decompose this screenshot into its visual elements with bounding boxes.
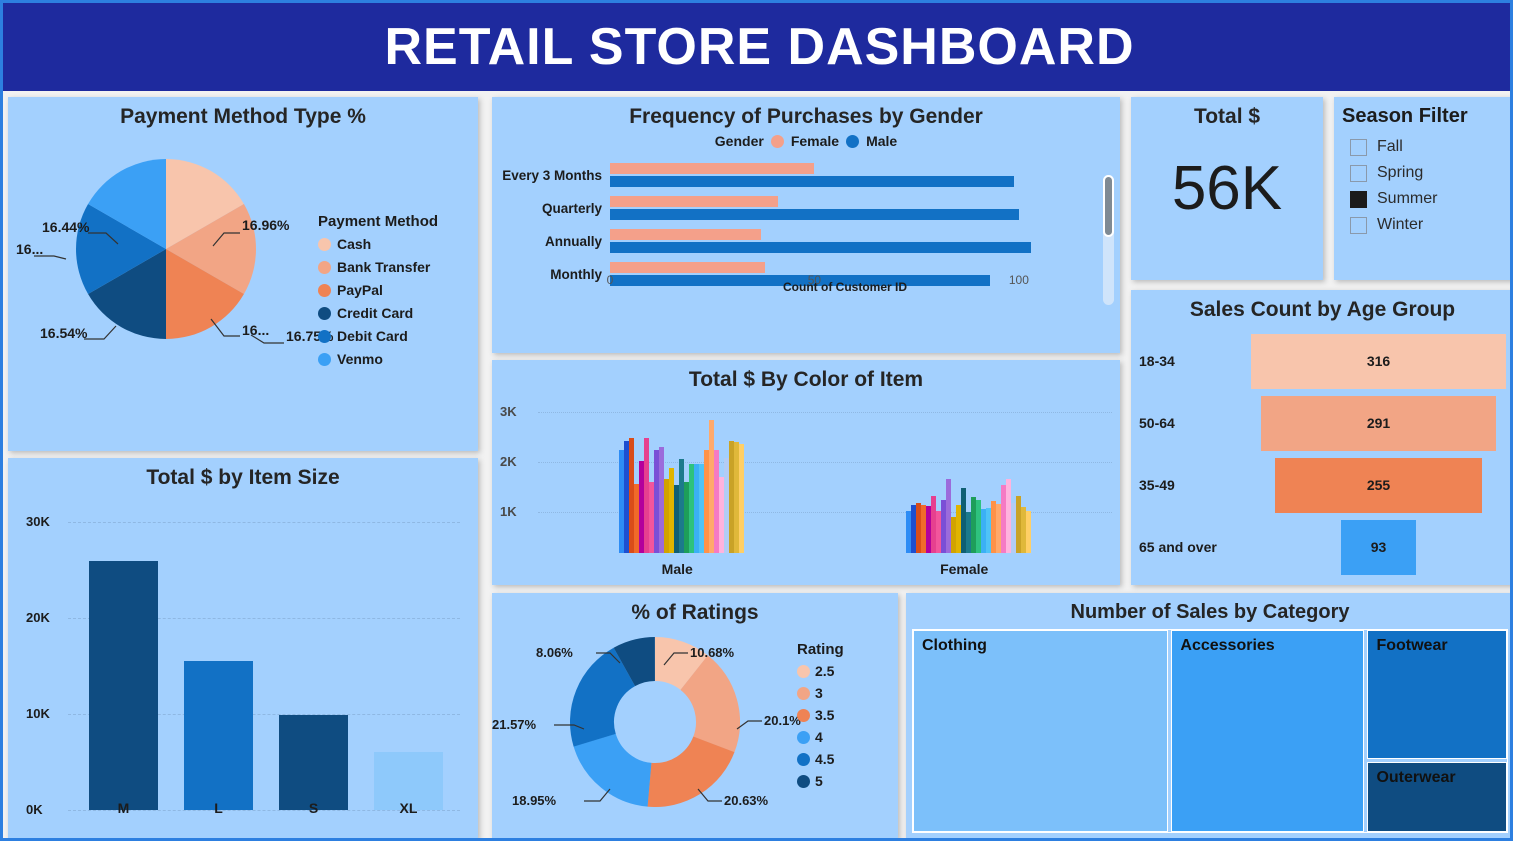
checkbox-row-spring[interactable]: Spring <box>1334 160 1513 186</box>
funnel-value-35-49: 255 <box>1367 477 1390 493</box>
legend-swatch-bank-transfer <box>318 261 331 274</box>
checkbox-row-summer[interactable]: Summer <box>1334 186 1513 212</box>
bar-male-every-3-months[interactable] <box>610 176 1014 187</box>
treemap-label-outerwear: Outerwear <box>1376 769 1455 786</box>
legend-item-debit-card[interactable]: Debit Card <box>318 328 438 344</box>
panel-title-category: Number of Sales by Category <box>906 593 1513 624</box>
bar-l[interactable] <box>184 661 252 810</box>
ytick-30k: 30K <box>26 514 66 529</box>
checkbox-winter[interactable] <box>1350 217 1367 234</box>
legend-label-bank-transfer: Bank Transfer <box>337 259 430 275</box>
legend-item-rating-2p5[interactable]: 2.5 <box>797 663 844 679</box>
legend-swatch-rating-3p5 <box>797 709 810 722</box>
legend-label-debit-card: Debit Card <box>337 328 408 344</box>
legend-item-rating-5[interactable]: 5 <box>797 773 844 789</box>
funnel-row-65-and-over[interactable]: 65 and over 93 <box>1139 516 1506 578</box>
xtick-s: S <box>279 800 347 816</box>
funnel-row-18-34[interactable]: 18-34 316 <box>1139 330 1506 392</box>
bar-group-female[interactable] <box>906 396 1031 553</box>
donut-label-3p5: 20.63% <box>724 793 768 808</box>
bar-group-annually[interactable]: Annually <box>502 225 1080 258</box>
scrollbar-thumb[interactable] <box>1103 175 1114 237</box>
bar-female-every-3-months[interactable] <box>610 163 814 174</box>
bar-chart-item-size[interactable]: 30K 20K 10K 0K M L S <box>20 504 466 824</box>
treemap-label-accessories: Accessories <box>1180 637 1274 654</box>
bar-col-s[interactable] <box>279 522 347 810</box>
dashboard-header: RETAIL STORE DASHBOARD <box>3 3 1513 91</box>
donut-svg-ratings[interactable] <box>570 637 740 807</box>
panel-title-season: Season Filter <box>1334 97 1513 134</box>
panel-color-of-item[interactable]: Total $ By Color of Item 3K 2K 1K Male F… <box>492 360 1120 585</box>
bar-col-m[interactable] <box>89 522 157 810</box>
bar-female-quarterly[interactable] <box>610 196 778 207</box>
legend-label-cash: Cash <box>337 236 371 252</box>
funnel-value-50-64: 291 <box>1367 415 1390 431</box>
checkbox-fall[interactable] <box>1350 139 1367 156</box>
treemap-label-footwear: Footwear <box>1376 637 1447 654</box>
legend-label-rating-3: 3 <box>815 685 823 701</box>
legend-gender[interactable]: Gender Female Male <box>492 133 1120 149</box>
bar-group-every-3-months[interactable]: Every 3 Months <box>502 159 1080 192</box>
legend-swatch-female <box>771 135 784 148</box>
xtick-male: Male <box>662 561 693 577</box>
funnel-label-35-49: 35-49 <box>1139 477 1251 493</box>
bar-rows-frequency: Every 3 Months Quarterly Annually <box>502 159 1080 291</box>
funnel-value-18-34: 316 <box>1367 353 1390 369</box>
legend-swatch-cash <box>318 238 331 251</box>
legend-swatch-rating-5 <box>797 775 810 788</box>
x-axis-labels-item-size: M L S XL <box>76 800 456 816</box>
treemap-cell-outerwear[interactable]: Outerwear <box>1367 762 1507 832</box>
panel-title-item-size: Total $ by Item Size <box>8 458 478 490</box>
bar-group-male[interactable] <box>619 396 744 553</box>
legend-label-credit-card: Credit Card <box>337 305 413 321</box>
xtick-female: Female <box>940 561 988 577</box>
pie-label-cash: 16.96% <box>242 217 289 233</box>
x-axis-frequency: 0 50 100 <box>610 273 1080 274</box>
x-axis-title-frequency: Count of Customer ID <box>610 280 1080 294</box>
legend-swatch-rating-3 <box>797 687 810 700</box>
panel-frequency[interactable]: Frequency of Purchases by Gender Gender … <box>492 97 1120 353</box>
funnel-value-65-and-over: 93 <box>1371 539 1387 555</box>
pie-label-debit-card-short: 16... <box>16 241 43 257</box>
funnel-label-65-and-over: 65 and over <box>1139 539 1251 555</box>
panel-title-age: Sales Count by Age Group <box>1131 290 1513 322</box>
treemap-category[interactable]: Clothing Accessories Footwear Outerwear <box>912 629 1508 833</box>
panel-title-payment: Payment Method Type % <box>8 97 478 129</box>
ytick-0k: 0K <box>26 802 66 817</box>
legend-ratings[interactable]: Rating 2.5 3 3.5 4 <box>797 641 844 795</box>
checkbox-summer[interactable] <box>1350 191 1367 208</box>
legend-label-rating-4p5: 4.5 <box>815 751 834 767</box>
legend-item-rating-4[interactable]: 4 <box>797 729 844 745</box>
legend-item-rating-4p5[interactable]: 4.5 <box>797 751 844 767</box>
bar-col-xl[interactable] <box>374 522 442 810</box>
bar-male-color-24[interactable] <box>739 444 744 553</box>
funnel-label-50-64: 50-64 <box>1139 415 1251 431</box>
legend-item-venmo[interactable]: Venmo <box>318 351 438 367</box>
treemap-cell-accessories[interactable]: Accessories <box>1171 630 1364 832</box>
legend-item-rating-3p5[interactable]: 3.5 <box>797 707 844 723</box>
panel-total-kpi[interactable]: Total $ 56K <box>1131 97 1323 280</box>
pie-chart-payment[interactable]: 16.96% 16.75% 16... 16.54% 16... 16.44% … <box>8 129 478 429</box>
bar-groups-color <box>538 396 1112 553</box>
panel-item-size[interactable]: Total $ by Item Size 30K 20K 10K 0K <box>8 458 478 839</box>
ytick-20k: 20K <box>26 610 66 625</box>
bar-chart-color-of-item[interactable]: 3K 2K 1K Male Female <box>492 396 1120 581</box>
bar-female-annually[interactable] <box>610 229 761 240</box>
legend-swatch-rating-4p5 <box>797 753 810 766</box>
panel-title-color: Total $ By Color of Item <box>492 360 1120 392</box>
funnel-bar-18-34[interactable]: 316 <box>1251 334 1506 389</box>
funnel-chart-age[interactable]: 18-34 316 50-64 291 35-49 <box>1131 322 1513 584</box>
bar-group-quarterly[interactable]: Quarterly <box>502 192 1080 225</box>
donut-label-5: 8.06% <box>536 645 573 660</box>
legend-swatch-credit-card <box>318 307 331 320</box>
bar-chart-frequency[interactable]: Every 3 Months Quarterly Annually <box>492 159 1120 294</box>
bar-m[interactable] <box>89 561 157 810</box>
panel-age-group[interactable]: Sales Count by Age Group 18-34 316 50-64… <box>1131 290 1513 585</box>
legend-title-rating: Rating <box>797 641 844 658</box>
ytick-color-3k: 3K <box>500 404 517 419</box>
checkbox-row-winter[interactable]: Winter <box>1334 212 1513 238</box>
x-axis-labels-color: Male Female <box>538 561 1112 577</box>
ytick-color-1k: 1K <box>500 504 517 519</box>
legend-label-rating-2p5: 2.5 <box>815 663 834 679</box>
legend-swatch-venmo <box>318 353 331 366</box>
panel-season-filter[interactable]: Season Filter Fall Spring Summer Winter <box>1334 97 1513 280</box>
donut-label-2p5: 10.68% <box>690 645 734 660</box>
legend-swatch-rating-2p5 <box>797 665 810 678</box>
bar-male-annually[interactable] <box>610 242 1031 253</box>
checkbox-label-summer: Summer <box>1377 190 1437 208</box>
legend-item-rating-3[interactable]: 3 <box>797 685 844 701</box>
scrollbar-frequency[interactable] <box>1103 175 1114 305</box>
donut-label-3: 20.1% <box>764 713 801 728</box>
bar-col-l[interactable] <box>184 522 252 810</box>
treemap-cell-footwear[interactable]: Footwear <box>1367 630 1507 759</box>
bar-male-quarterly[interactable] <box>610 209 1019 220</box>
panel-ratings[interactable]: % of Ratings 10.68% <box>492 593 898 839</box>
panel-category-treemap[interactable]: Number of Sales by Category Clothing Acc… <box>906 593 1513 839</box>
pie-label-venmo: 16.44% <box>42 219 89 235</box>
legend-swatch-paypal <box>318 284 331 297</box>
legend-swatch-rating-4 <box>797 731 810 744</box>
bar-female-color-24[interactable] <box>1026 511 1031 553</box>
legend-swatch-debit-card <box>318 330 331 343</box>
panel-title-ratings: % of Ratings <box>492 593 898 625</box>
legend-item-paypal[interactable]: PayPal <box>318 282 438 298</box>
checkbox-row-fall[interactable]: Fall <box>1334 134 1513 160</box>
ytick-every-3-months: Every 3 Months <box>502 168 610 183</box>
pie-svg-payment[interactable] <box>66 149 266 349</box>
checkbox-label-fall: Fall <box>1377 138 1403 156</box>
page-title: RETAIL STORE DASHBOARD <box>384 17 1134 77</box>
legend-swatch-male <box>846 135 859 148</box>
legend-label-female: Female <box>791 133 839 149</box>
legend-title-payment: Payment Method <box>318 213 438 230</box>
kpi-value-total: 56K <box>1131 153 1323 224</box>
panel-title-frequency: Frequency of Purchases by Gender <box>492 97 1120 129</box>
funnel-bar-65-and-over[interactable]: 93 <box>1341 520 1416 575</box>
legend-label-rating-4: 4 <box>815 729 823 745</box>
treemap-label-clothing: Clothing <box>922 637 987 654</box>
legend-title-gender: Gender <box>715 133 764 149</box>
funnel-bar-35-49[interactable]: 255 <box>1275 458 1482 513</box>
treemap-cell-clothing[interactable]: Clothing <box>913 630 1168 832</box>
xtick-m: M <box>89 800 157 816</box>
funnel-bar-50-64[interactable]: 291 <box>1261 396 1496 451</box>
checkbox-label-winter: Winter <box>1377 216 1423 234</box>
dashboard-root: RETAIL STORE DASHBOARD Payment Method Ty… <box>0 0 1513 841</box>
panel-title-total: Total $ <box>1131 97 1323 129</box>
bar-female-monthly[interactable] <box>610 262 765 273</box>
funnel-label-18-34: 18-34 <box>1139 353 1251 369</box>
legend-item-bank-transfer[interactable]: Bank Transfer <box>318 259 438 275</box>
legend-label-male: Male <box>866 133 897 149</box>
pie-label-credit-card: 16.54% <box>40 325 87 341</box>
donut-label-4: 18.95% <box>512 793 556 808</box>
xtick-l: L <box>184 800 252 816</box>
checkbox-spring[interactable] <box>1350 165 1367 182</box>
legend-label-rating-3p5: 3.5 <box>815 707 834 723</box>
pie-label-paypal-short: 16... <box>242 322 269 338</box>
legend-label-rating-5: 5 <box>815 773 823 789</box>
checkbox-label-spring: Spring <box>1377 164 1423 182</box>
ytick-color-2k: 2K <box>500 454 517 469</box>
legend-label-paypal: PayPal <box>337 282 383 298</box>
bar-s[interactable] <box>279 715 347 810</box>
ytick-quarterly: Quarterly <box>502 201 610 216</box>
legend-payment-method[interactable]: Payment Method Cash Bank Transfer PayPal… <box>318 213 438 374</box>
panel-payment-method[interactable]: Payment Method Type % 16.96% 16.75% <box>8 97 478 451</box>
ytick-10k: 10K <box>26 706 66 721</box>
legend-item-credit-card[interactable]: Credit Card <box>318 305 438 321</box>
funnel-row-50-64[interactable]: 50-64 291 <box>1139 392 1506 454</box>
donut-chart-ratings[interactable]: 10.68% 20.1% 20.63% 18.95% 21.57% 8.06% … <box>492 625 898 830</box>
ytick-monthly: Monthly <box>502 267 610 282</box>
donut-label-4p5: 21.57% <box>492 717 536 732</box>
legend-label-venmo: Venmo <box>337 351 383 367</box>
xtick-xl: XL <box>374 800 442 816</box>
ytick-annually: Annually <box>502 234 610 249</box>
funnel-row-35-49[interactable]: 35-49 255 <box>1139 454 1506 516</box>
legend-item-cash[interactable]: Cash <box>318 236 438 252</box>
